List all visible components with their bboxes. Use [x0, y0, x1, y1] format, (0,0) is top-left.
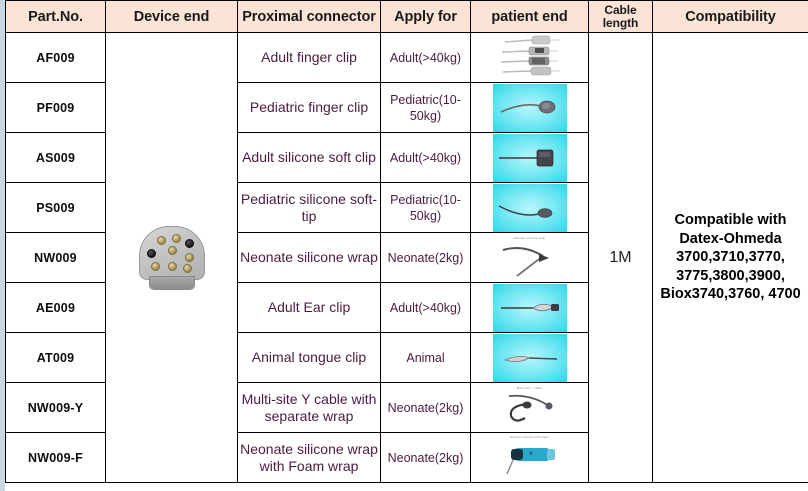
cell-apply-for: Neonate(2kg): [381, 433, 471, 483]
cell-partno: PS009: [6, 183, 106, 233]
cell-apply-for: Neonate(2kg): [381, 233, 471, 283]
cell-proximal: Adult Ear clip: [238, 283, 381, 333]
cell-apply-for: Neonate(2kg): [381, 383, 471, 433]
cell-proximal: Neonate silicone wrap: [238, 233, 381, 283]
col-header-apply-for: Apply for: [381, 1, 471, 33]
cell-patient-end: [471, 83, 589, 133]
spec-table-page: Part.No. Device end Proximal connector A…: [0, 0, 808, 491]
photo-caption: Neonate silicone wrap: [514, 237, 546, 240]
cell-patient-end: [471, 33, 589, 83]
cell-patient-end: Neonate silicone with foam: [471, 433, 589, 483]
cell-partno: AF009: [6, 33, 106, 83]
adult-silicone-soft-clip-photo: [471, 133, 588, 182]
cell-compatibility: Compatible with Datex-Ohmeda 3700,3710,3…: [653, 33, 808, 483]
cell-partno: AT009: [6, 333, 106, 383]
photo-caption: Multi-site Y cable: [517, 387, 542, 390]
multi-site-y-cable-photo: Multi-site Y cable: [471, 383, 588, 432]
cell-proximal: Multi-site Y cable with separate wrap: [238, 383, 381, 433]
product-spec-table: Part.No. Device end Proximal connector A…: [5, 0, 808, 483]
cell-patient-end: [471, 333, 589, 383]
cell-proximal: Neonate silicone wrap with Foam wrap: [238, 433, 381, 483]
cell-apply-for: Adult(>40kg): [381, 133, 471, 183]
table-row: AF009: [6, 33, 808, 83]
cell-patient-end: Multi-site Y cable: [471, 383, 589, 433]
col-header-device-end: Device end: [106, 1, 238, 33]
col-header-cable-length: Cable length: [589, 1, 653, 33]
animal-tongue-clip-photo: [471, 333, 588, 382]
cell-apply-for: Adult(>40kg): [381, 283, 471, 333]
cell-partno: PF009: [6, 83, 106, 133]
cell-patient-end: [471, 183, 589, 233]
cell-partno: AE009: [6, 283, 106, 333]
cell-patient-end: [471, 283, 589, 333]
cell-partno: NW009: [6, 233, 106, 283]
col-header-compatibility: Compatibility: [653, 1, 808, 33]
col-header-partno: Part.No.: [6, 1, 106, 33]
cell-apply-for: Pediatric(10-50kg): [381, 183, 471, 233]
col-header-proximal-connector: Proximal connector: [238, 1, 381, 33]
header-row: Part.No. Device end Proximal connector A…: [6, 1, 808, 33]
device-end-connector-photo: [106, 224, 237, 292]
cell-apply-for: Adult(>40kg): [381, 33, 471, 83]
cell-patient-end: Neonate silicone wrap: [471, 233, 589, 283]
cell-proximal: Adult finger clip: [238, 33, 381, 83]
col-header-patient-end: patient end: [471, 1, 589, 33]
pediatric-silicone-soft-tip-photo: [471, 183, 588, 232]
cell-proximal: Pediatric silicone soft-tip: [238, 183, 381, 233]
photo-caption: Neonate silicone with foam: [510, 436, 549, 439]
table-header: Part.No. Device end Proximal connector A…: [6, 1, 808, 33]
neonate-silicone-wrap-photo: Neonate silicone wrap: [471, 233, 588, 282]
cell-patient-end: [471, 133, 589, 183]
adult-ear-clip-photo: [471, 283, 588, 332]
cell-cable-length: 1M: [589, 33, 653, 483]
cell-apply-for: Animal: [381, 333, 471, 383]
cell-proximal: Pediatric finger clip: [238, 83, 381, 133]
cell-proximal: Adult silicone soft clip: [238, 133, 381, 183]
pediatric-finger-clip-photo: [471, 83, 588, 132]
cell-proximal: Animal tongue clip: [238, 333, 381, 383]
table-body: AF009: [6, 33, 808, 483]
four-adult-finger-clips-photo: [471, 33, 588, 82]
cell-partno: AS009: [6, 133, 106, 183]
cell-partno: NW009-Y: [6, 383, 106, 433]
neonate-foam-wrap-photo: Neonate silicone with foam: [471, 433, 588, 482]
cell-partno: NW009-F: [6, 433, 106, 483]
cell-device-end: [106, 33, 238, 483]
cell-apply-for: Pediatric(10-50kg): [381, 83, 471, 133]
